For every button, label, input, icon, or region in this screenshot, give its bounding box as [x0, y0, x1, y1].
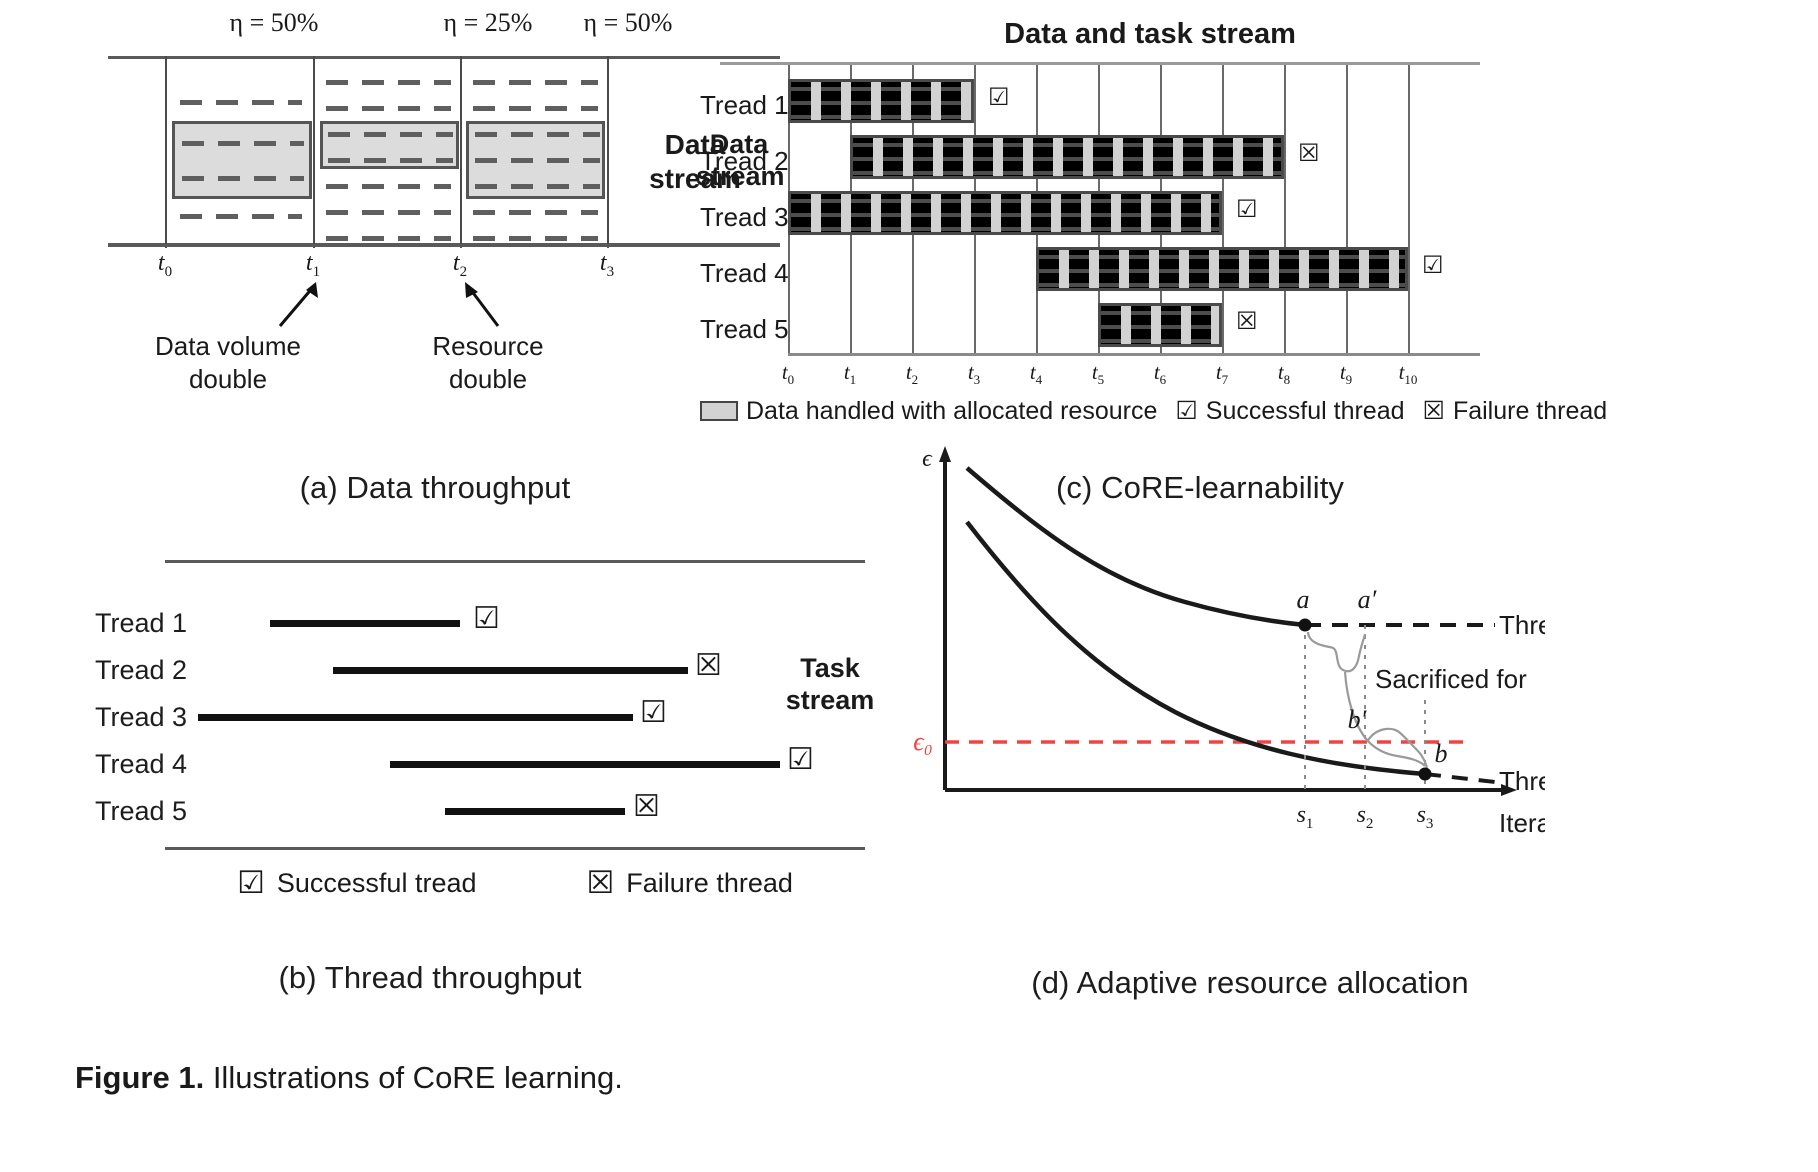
panel-c-tick-t10: t10: [1399, 360, 1418, 388]
figure-caption: Figure 1. Illustrations of CoRE learning…: [75, 1060, 623, 1096]
panel-c-tick-t1: t1: [844, 360, 856, 388]
panel-b-side-label: Task stream: [770, 652, 890, 717]
panel-d-thread1-curve: [967, 468, 1305, 625]
panel-a-allocated-resource-box: [172, 121, 312, 199]
panel-d-series-label-thread1: Thread 1: [1499, 610, 1545, 640]
panel-c-status-success: ☑: [1422, 254, 1444, 278]
panel-c-bar-hatch: [1039, 250, 1405, 288]
panel-a-annotation-resource: Resource double: [378, 330, 598, 395]
panel-a-data-dash: [180, 100, 302, 105]
panel-c-bar-hatch: [1101, 306, 1219, 344]
panel-c-status-failure: ☒: [1298, 142, 1320, 166]
panel-b-status-success: ☑: [787, 745, 814, 775]
panel-c-status-failure: ☒: [1236, 310, 1258, 334]
panel-c-data-bar: [1036, 247, 1408, 291]
panel-c-tick-t6: t6: [1154, 360, 1166, 388]
panel-c-chart-title: Data and task stream: [800, 18, 1500, 51]
panel-d-label-a-prime: a′: [1358, 585, 1377, 614]
panel-c-gridline-t10: [1408, 65, 1410, 353]
panel-b-status-failure: ☒: [633, 792, 660, 822]
panel-b-thread-bar: [333, 667, 688, 674]
panel-d-label-b: b: [1435, 739, 1448, 768]
panel-a-data-dash: [328, 132, 453, 137]
panel-c-tick-t4: t4: [1030, 360, 1042, 388]
panel-c-core-learnability: Data and task stream Data stream Tread 1…: [700, 18, 1510, 438]
panel-a-data-dash: [475, 132, 600, 137]
panel-c-tick-t3: t3: [968, 360, 980, 388]
panel-d-adaptive-resource-allocation: a a′ b′ b ϵ ϵ₀ s1 s2 s3 Thread 1 Thread …: [905, 440, 1545, 840]
panel-c-row-label: Tread 2: [700, 146, 800, 177]
resource-swatch-icon: [700, 401, 738, 421]
panel-a-divider-t3: [607, 56, 609, 248]
panel-d-y-axis-label: ϵ: [922, 446, 933, 472]
panel-c-status-success: ☑: [988, 86, 1010, 110]
panel-b-thread-throughput: Tread 1 ☑ Tread 2 ☒ Tread 3 ☑ Tread 4 ☑ …: [95, 560, 885, 890]
panel-a-data-dash: [475, 184, 600, 189]
panel-c-tick-t8: t8: [1278, 360, 1290, 388]
panel-c-bar-hatch: [791, 82, 971, 120]
panel-b-thread-bar: [270, 620, 460, 627]
panel-a-data-dash: [473, 210, 598, 215]
panel-a-data-dash: [473, 236, 598, 241]
panel-c-gridline-t8: [1284, 65, 1286, 353]
panel-c-tick-t9: t9: [1340, 360, 1352, 388]
panel-a-divider-t2: [460, 56, 462, 248]
figure-caption-lead: Figure 1.: [75, 1060, 204, 1095]
panel-c-data-bar: [1098, 303, 1222, 347]
panel-c-legend-item-failure: ☒ Failure thread: [1423, 396, 1608, 426]
panel-a-arrow-resource: [460, 280, 520, 330]
panel-b-row-label: Tread 5: [95, 796, 225, 827]
figure-caption-text: Illustrations of CoRE learning.: [204, 1060, 623, 1095]
panel-a-tick-t3: t3: [600, 250, 614, 281]
panel-d-caption: (d) Adaptive resource allocation: [950, 965, 1550, 1001]
panel-d-label-b-prime: b′: [1348, 705, 1367, 734]
panel-d-thread2-curve: [967, 522, 1425, 774]
panel-c-row-label: Tread 4: [700, 258, 800, 289]
panel-b-row-label: Tread 2: [95, 655, 225, 686]
panel-c-row-label: Tread 3: [700, 202, 800, 233]
panel-b-legend: ☑ Successful tread ☒ Failure thread: [165, 865, 865, 901]
panel-b-thread-bar: [390, 761, 780, 768]
panel-a-eta-0: η = 50%: [174, 8, 374, 38]
panel-a-time-axis: [108, 244, 780, 247]
panel-b-bottom-rule: [165, 847, 865, 850]
panel-a-data-dash: [182, 176, 304, 181]
panel-a-data-dash: [326, 80, 451, 85]
panel-d-brace-top: [1308, 632, 1365, 671]
panel-b-top-rule: [165, 560, 865, 563]
panel-a-data-dash: [475, 158, 600, 163]
panel-b-legend-item-success: ☑ Successful tread: [237, 865, 476, 901]
panel-b-row-label: Tread 4: [95, 749, 225, 780]
panel-d-thread2-dashed: [1425, 774, 1495, 782]
panel-a-tick-t0: t0: [158, 250, 172, 281]
panel-b-legend-item-failure: ☒ Failure thread: [587, 865, 793, 901]
panel-d-point-a: [1299, 619, 1312, 632]
panel-a-divider-t1: [313, 56, 315, 248]
panel-b-row-label: Tread 1: [95, 608, 225, 639]
panel-a-data-dash: [326, 184, 451, 189]
panel-b-status-success: ☑: [473, 604, 500, 634]
panel-d-tick-s3: s3: [1417, 802, 1434, 832]
panel-a-arrow-data-volume: [276, 280, 336, 330]
panel-c-data-bar: [788, 191, 1222, 235]
panel-a-eta-2: η = 50%: [528, 8, 728, 38]
panel-b-thread-bar: [445, 808, 625, 815]
panel-c-time-axis: [788, 353, 1480, 356]
panel-c-row-label: Tread 1: [700, 90, 800, 121]
panel-a-tick-t2: t2: [453, 250, 467, 281]
panel-d-tick-s2: s2: [1357, 802, 1374, 832]
panel-d-series-label-thread2: Thread 2: [1499, 766, 1545, 796]
panel-b-thread-bar: [198, 714, 633, 721]
panel-d-x-axis-label: Iteration: [1499, 808, 1545, 838]
panel-c-tick-t2: t2: [906, 360, 918, 388]
checkbox-crossed-icon: ☒: [1423, 396, 1445, 426]
checkbox-crossed-icon: ☒: [587, 865, 615, 901]
panel-c-legend: Data handled with allocated resource ☑ S…: [700, 396, 1500, 426]
panel-d-label-a: a: [1297, 585, 1310, 614]
panel-d-threshold-label: ϵ₀: [913, 727, 933, 756]
panel-b-status-success: ☑: [640, 698, 667, 728]
panel-c-plot-area: [788, 65, 1468, 353]
panel-d-chart: a a′ b′ b ϵ ϵ₀ s1 s2 s3 Thread 1 Thread …: [905, 440, 1545, 840]
panel-b-status-failure: ☒: [695, 651, 722, 681]
panel-c-bar-hatch: [853, 138, 1281, 176]
panel-d-point-b: [1419, 768, 1432, 781]
panel-c-legend-item-success: ☑ Successful thread: [1175, 396, 1404, 426]
panel-a-caption: (a) Data throughput: [175, 470, 695, 506]
panel-c-bar-hatch: [791, 194, 1219, 232]
panel-c-data-bar: [788, 79, 974, 123]
panel-a-data-dash: [473, 106, 598, 111]
panel-d-tick-s1: s1: [1297, 802, 1314, 832]
panel-a-data-dash: [473, 80, 598, 85]
panel-a-divider-t0: [165, 56, 167, 248]
panel-c-tick-t5: t5: [1092, 360, 1104, 388]
panel-c-gridline-t9: [1346, 65, 1348, 353]
panel-a-data-dash: [328, 158, 453, 163]
panel-a-data-dash: [326, 106, 451, 111]
panel-a-data-dash: [182, 141, 304, 146]
panel-c-legend-item-data: Data handled with allocated resource: [700, 397, 1157, 426]
panel-a-data-dash: [326, 210, 451, 215]
panel-c-status-success: ☑: [1236, 198, 1258, 222]
panel-a-data-dash: [326, 236, 451, 241]
checkbox-checked-icon: ☑: [237, 865, 265, 901]
panel-c-data-bar: [850, 135, 1284, 179]
panel-c-row-label: Tread 5: [700, 314, 800, 345]
panel-c-tick-t0: t0: [782, 360, 794, 388]
panel-a-tick-t1: t1: [306, 250, 320, 281]
panel-a-data-dash: [180, 214, 302, 219]
checkbox-checked-icon: ☑: [1175, 396, 1197, 426]
panel-c-gridline-t7: [1222, 65, 1224, 353]
panel-b-caption: (b) Thread throughput: [160, 960, 700, 996]
panel-d-annotation-sacrificed: Sacrificed for: [1375, 664, 1527, 694]
panel-d-y-axis-arrowhead: [939, 446, 951, 462]
panel-a-data-throughput: η = 50% η = 25% η = 50% t0 t1 t2 t3: [108, 8, 788, 428]
panel-a-annotation-data-volume: Data volume double: [118, 330, 338, 395]
panel-c-tick-t7: t7: [1216, 360, 1228, 388]
